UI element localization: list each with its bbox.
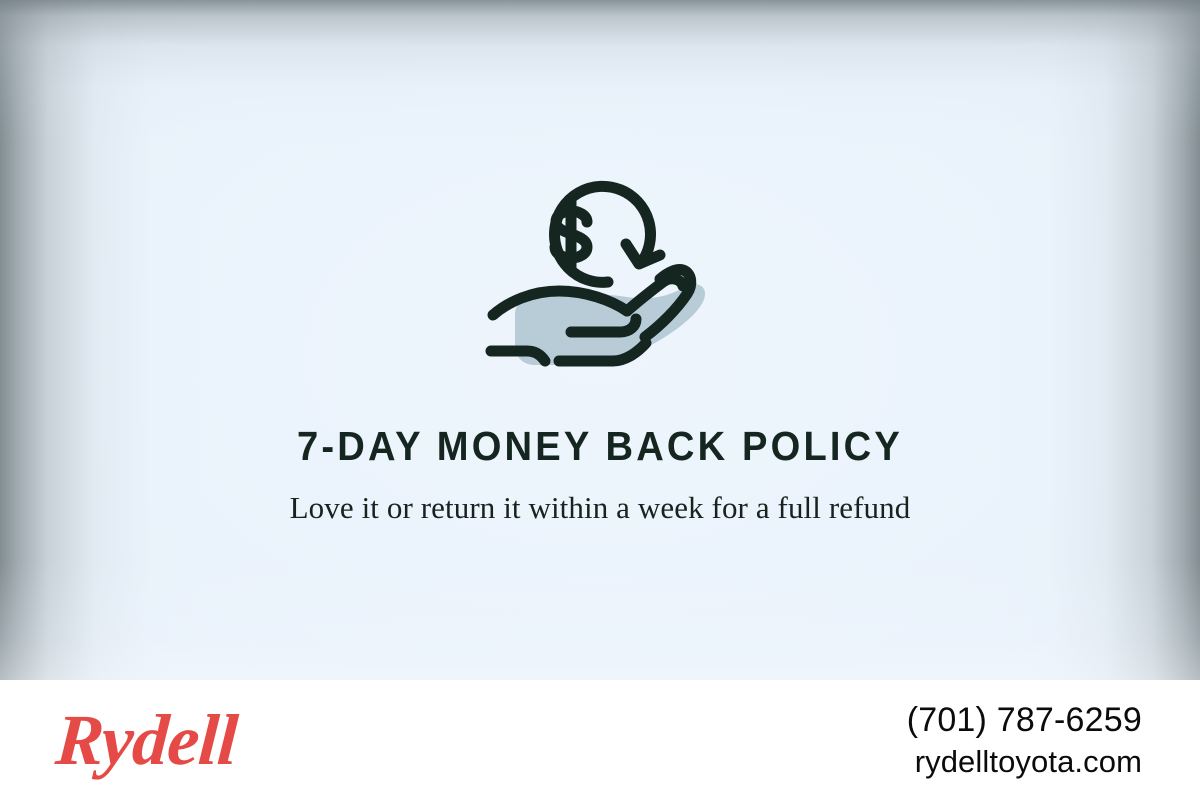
footer-bar: Rydell (701) 787-6259 rydelltoyota.com	[0, 680, 1200, 800]
icon-container	[0, 150, 1200, 400]
hero-panel: 7-DAY MONEY BACK POLICY Love it or retur…	[0, 0, 1200, 680]
promo-card: 7-DAY MONEY BACK POLICY Love it or retur…	[0, 0, 1200, 800]
promo-copy: 7-DAY MONEY BACK POLICY Love it or retur…	[0, 424, 1200, 530]
promo-headline: 7-DAY MONEY BACK POLICY	[42, 424, 1158, 469]
contact-phone[interactable]: (701) 787-6259	[907, 699, 1142, 741]
brand-logo[interactable]: Rydell	[56, 704, 237, 776]
contact-block: (701) 787-6259 rydelltoyota.com	[907, 699, 1142, 780]
hand-wrist-edge	[491, 351, 545, 361]
brand-wordmark: Rydell	[53, 704, 239, 776]
promo-subheadline: Love it or return it within a week for a…	[250, 487, 950, 529]
contact-website[interactable]: rydelltoyota.com	[907, 742, 1142, 781]
hand-holding-money-refund-icon	[475, 155, 725, 395]
